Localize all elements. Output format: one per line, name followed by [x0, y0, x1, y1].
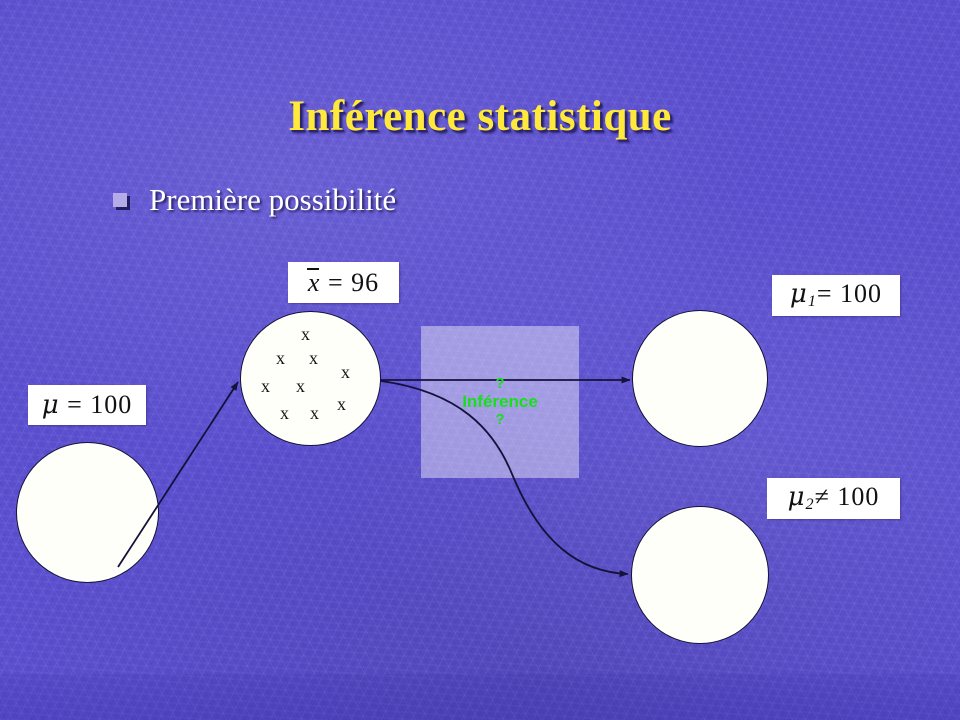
sample-x-mark: x — [337, 395, 346, 413]
sample-x-mark: x — [261, 377, 270, 395]
formula-population-mean-text: μ = 100 — [42, 390, 133, 420]
formula-hypothesis-1: μ1= 100 — [772, 275, 900, 316]
square-bullet-icon — [113, 193, 127, 207]
sample-x-mark: x — [341, 363, 350, 381]
formula-hypothesis-2-text: μ2≠ 100 — [788, 482, 880, 514]
population-circle — [16, 442, 159, 583]
hypothesis-2-circle — [631, 506, 769, 644]
sample-x-mark: x — [276, 349, 285, 367]
page-title: Inférence statistique — [0, 92, 960, 141]
hypothesis-1-circle — [632, 310, 768, 447]
slide: Inférence statistique Première possibili… — [0, 0, 960, 720]
sample-circle: x x x x x x x x x — [240, 311, 381, 446]
formula-population-mean: μ = 100 — [28, 385, 146, 425]
formula-hypothesis-2: μ2≠ 100 — [767, 478, 900, 519]
slide-footer-band — [0, 674, 960, 720]
sample-x-mark: x — [309, 349, 318, 367]
formula-sample-mean: x = 96 — [288, 262, 399, 303]
bullet-item-label: Première possibilité — [149, 182, 396, 218]
bullet-item: Première possibilité — [113, 182, 396, 218]
formula-hypothesis-1-text: μ1= 100 — [790, 279, 882, 311]
sample-x-mark: x — [296, 377, 305, 395]
sample-x-mark: x — [280, 404, 289, 422]
sample-x-mark: x — [301, 325, 310, 343]
sample-x-mark: x — [310, 404, 319, 422]
formula-sample-mean-text: x = 96 — [308, 268, 379, 298]
inference-panel — [421, 326, 579, 478]
